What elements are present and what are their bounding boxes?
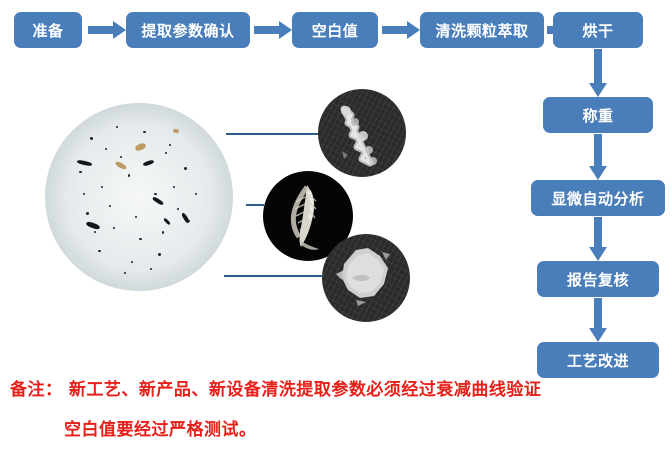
flow-node-analyze-label: 显微自动分析 bbox=[551, 188, 644, 209]
flowchart-canvas: 准备 提取参数确认 空白值 清洗颗粒萃取 烘干 bbox=[0, 0, 672, 449]
flow-node-blank-label: 空白值 bbox=[312, 20, 359, 41]
arrow-dry-to-weigh bbox=[589, 49, 607, 97]
flow-node-weigh-label: 称重 bbox=[582, 105, 613, 126]
arrow-analyze-to-review bbox=[589, 217, 607, 261]
arrow-blank-to-extract bbox=[382, 21, 420, 39]
arrow-params-to-blank bbox=[254, 21, 292, 39]
flow-node-improve[interactable]: 工艺改进 bbox=[537, 342, 659, 378]
arrow-prepare-to-params bbox=[88, 21, 126, 39]
connector-membrane-to-inset-middle bbox=[246, 204, 264, 206]
arrow-weigh-to-analyze bbox=[589, 134, 607, 180]
flow-node-dry-label: 烘干 bbox=[582, 20, 613, 41]
flow-node-review[interactable]: 报告复核 bbox=[537, 261, 659, 297]
flow-node-prepare[interactable]: 准备 bbox=[14, 12, 82, 48]
flow-node-params[interactable]: 提取参数确认 bbox=[126, 12, 250, 48]
flow-node-weigh[interactable]: 称重 bbox=[543, 97, 653, 133]
particle-micrograph-metal-flake bbox=[322, 234, 410, 322]
flow-node-improve-label: 工艺改进 bbox=[567, 350, 629, 371]
particle-micrograph-fiber-cluster bbox=[318, 89, 406, 177]
flow-node-params-label: 提取参数确认 bbox=[141, 20, 234, 41]
flow-node-analyze[interactable]: 显微自动分析 bbox=[531, 180, 665, 216]
connector-membrane-to-inset-top bbox=[226, 133, 318, 135]
flow-node-extract[interactable]: 清洗颗粒萃取 bbox=[420, 12, 544, 48]
flow-node-review-label: 报告复核 bbox=[567, 269, 629, 290]
filter-membrane-photo bbox=[45, 103, 233, 291]
arrow-review-to-improve bbox=[589, 298, 607, 342]
flow-node-prepare-label: 准备 bbox=[32, 20, 63, 41]
flow-node-dry[interactable]: 烘干 bbox=[553, 12, 643, 48]
flow-node-extract-label: 清洗颗粒萃取 bbox=[435, 20, 528, 41]
connector-membrane-to-inset-bottom bbox=[224, 275, 322, 277]
flow-node-blank[interactable]: 空白值 bbox=[292, 12, 378, 48]
note-line-2: 空白值要经过严格测试。 bbox=[64, 415, 257, 440]
note-line-1: 备注： 新工艺、新产品、新设备清洗提取参数必须经过衰减曲线验证 bbox=[10, 375, 541, 400]
